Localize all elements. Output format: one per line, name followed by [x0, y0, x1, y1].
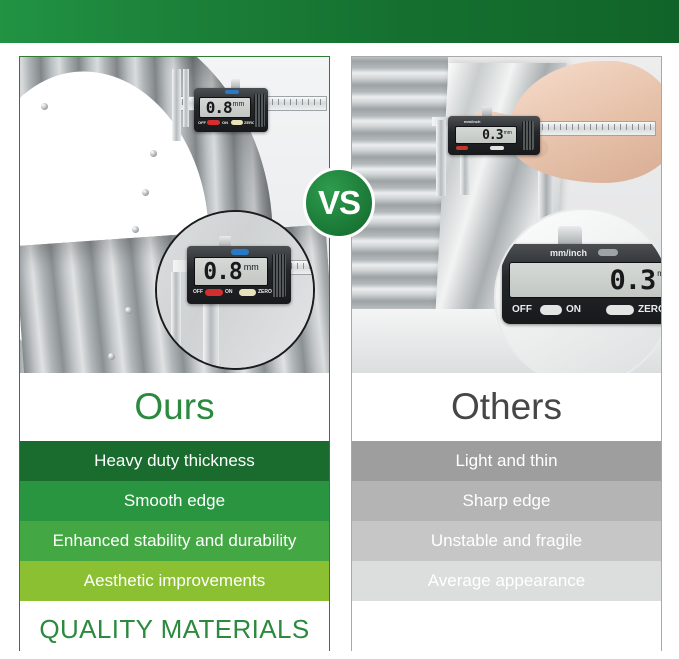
caliper-reading: 0.3 — [482, 128, 502, 143]
feature-row: Aesthetic improvements — [20, 561, 329, 601]
inset-caliper-reading: 0.8 — [203, 259, 242, 285]
caliper-jaw — [183, 69, 189, 127]
caliper-body: 0.8 mm OFF ON ZERO — [194, 88, 268, 132]
inset-zero-button[interactable] — [239, 289, 256, 296]
footer-caption-others — [352, 601, 661, 658]
inset-thumb-roller — [272, 254, 286, 297]
header-band — [0, 0, 679, 43]
inset-mode-button — [231, 249, 249, 255]
inset-caliper-unit: mm — [244, 262, 259, 272]
magnifier-inset-others: mm/inch 0.3 mm OFF ON ZERO — [494, 208, 661, 373]
inset-caliper-body: 0.8 mm OFF ON ZERO — [187, 246, 291, 304]
rivet — [41, 103, 48, 110]
feature-row: Light and thin — [352, 441, 661, 481]
caliper-reading: 0.8 — [206, 98, 232, 117]
caliper-scale-ticks — [542, 124, 652, 130]
inset-caliper-lcd: 0.3 mm — [509, 262, 661, 298]
footer-caption-ours: QUALITY MATERIALS — [20, 601, 329, 658]
rivet — [142, 189, 149, 196]
inset-on-label: ON — [566, 304, 581, 315]
caliper-zero-button[interactable] — [231, 120, 243, 125]
caliper-thumb-roller — [254, 94, 265, 127]
inset-zero-label: ZERO — [258, 289, 272, 295]
caliper-jaw — [436, 120, 446, 196]
inset-caliper-lcd: 0.8 mm — [194, 257, 268, 286]
vs-badge: VS — [303, 167, 375, 239]
inset-power-switch[interactable] — [540, 305, 562, 315]
feature-row: Unstable and fragile — [352, 521, 661, 561]
feature-row: Smooth edge — [20, 481, 329, 521]
photo-others: mm/inch 0.3 mm mm/inch — [352, 57, 661, 373]
inset-caliper-reading: 0.3 — [609, 265, 655, 296]
feature-row: Sharp edge — [352, 481, 661, 521]
inset-caliper-unit: mm — [657, 269, 661, 278]
inset-zero-label: ZERO — [638, 304, 661, 315]
caliper-lcd: 0.3 mm — [455, 126, 517, 144]
photo-ours: 0.8 mm OFF ON ZERO — [20, 57, 329, 373]
caliper-off-label: OFF — [198, 120, 206, 125]
inset-off-label: OFF — [193, 289, 203, 295]
caliper-body: mm/inch 0.3 mm — [448, 116, 540, 155]
feature-row: Heavy duty thickness — [20, 441, 329, 481]
caliper-mode-label: mm/inch — [464, 119, 480, 124]
heading-ours: Ours — [20, 373, 329, 441]
inset-mode-button[interactable] — [598, 249, 618, 256]
rivet — [125, 307, 132, 314]
inset-zero-button[interactable] — [606, 305, 634, 315]
caliper-mode-button — [225, 90, 239, 94]
caliper-unit: mm — [233, 101, 245, 108]
feature-row: Average appearance — [352, 561, 661, 601]
feature-row: Enhanced stability and durability — [20, 521, 329, 561]
rivet — [132, 226, 139, 233]
comparison-infographic: VS 0.8 — [0, 0, 679, 659]
caliper-thumb-roller — [522, 121, 534, 150]
rivet — [108, 353, 115, 360]
vs-badge-label: VS — [318, 184, 360, 222]
caliper-jaw — [172, 69, 181, 141]
caliper-unit: mm — [504, 130, 512, 136]
caliper-on-label: ON — [222, 120, 228, 125]
caliper-zero-button[interactable] — [490, 146, 504, 150]
magnifier-inset-ours: 0.8 mm OFF ON ZERO — [155, 210, 315, 370]
inset-mode-label: mm/inch — [550, 248, 587, 258]
caliper-power-switch[interactable] — [456, 146, 468, 150]
inset-off-label: OFF — [512, 304, 532, 315]
inset-on-label: ON — [225, 289, 233, 295]
inset-power-switch[interactable] — [205, 289, 223, 296]
inset-caliper-body: mm/inch 0.3 mm OFF ON ZERO — [502, 244, 661, 324]
caliper-lcd: 0.8 mm — [199, 97, 251, 118]
rivet — [150, 150, 157, 157]
caliper-scale-rail — [538, 121, 656, 136]
panel-others: mm/inch 0.3 mm mm/inch — [351, 56, 662, 651]
heading-others: Others — [352, 373, 661, 441]
caliper-power-switch[interactable] — [207, 120, 220, 125]
inset-caliper-jaw — [171, 272, 181, 367]
panel-ours: 0.8 mm OFF ON ZERO — [19, 56, 330, 651]
